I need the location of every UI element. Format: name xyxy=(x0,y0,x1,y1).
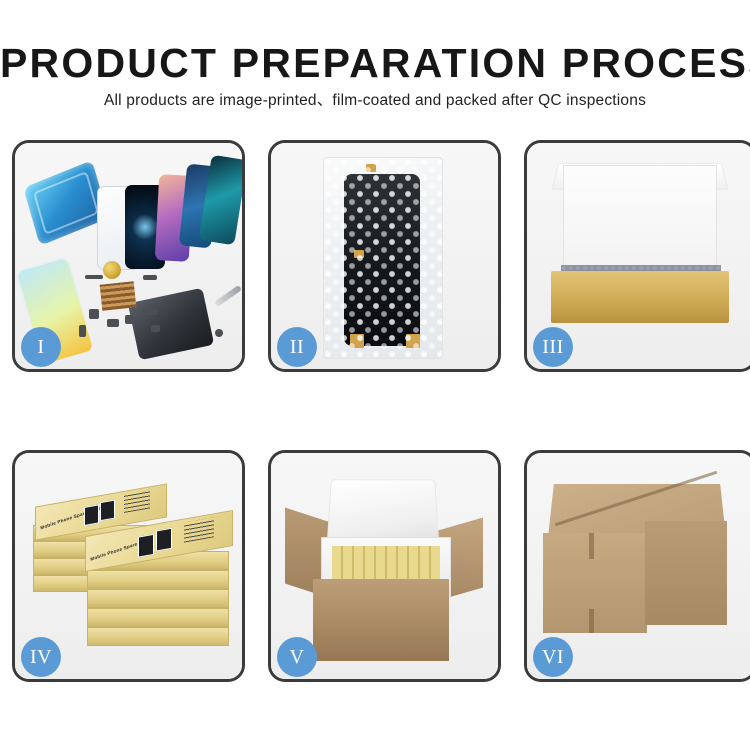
phone-back-housing xyxy=(128,288,214,361)
box-label-lines xyxy=(184,517,214,542)
small-part xyxy=(79,325,86,337)
kraft-box-tray xyxy=(551,271,729,323)
page-title: PRODUCT PREPARATION PROCESS xyxy=(0,40,750,87)
stacked-box xyxy=(87,608,229,627)
step-badge-2: II xyxy=(277,327,317,367)
box-label-image xyxy=(100,500,115,522)
process-step-panel-3[interactable]: III xyxy=(524,140,750,372)
chip-grid xyxy=(100,281,137,310)
blue-screen-protector xyxy=(23,160,108,246)
gold-component xyxy=(103,261,121,279)
small-part xyxy=(125,315,134,324)
process-step-panel-5[interactable]: V xyxy=(268,450,501,682)
process-step-grid: I II xyxy=(0,135,750,695)
step-badge-6: VI xyxy=(533,637,573,677)
process-step-panel-2[interactable]: II xyxy=(268,140,501,372)
carton-side-face xyxy=(645,521,727,625)
carton-seam xyxy=(589,533,594,559)
small-part xyxy=(143,275,157,280)
bubble-texture xyxy=(324,158,442,358)
box-label-lines xyxy=(124,490,150,513)
step-badge-3: III xyxy=(533,327,573,367)
small-part xyxy=(85,275,103,279)
box-label-image xyxy=(156,528,172,552)
process-step-panel-4[interactable]: Mobile Phone Spare Parts Mobile Phone Sp… xyxy=(12,450,245,682)
box-label-image xyxy=(138,534,154,558)
process-step-panel-1[interactable]: I xyxy=(12,140,245,372)
small-part xyxy=(107,319,119,327)
stacked-box xyxy=(87,627,229,646)
small-part xyxy=(141,309,157,315)
small-part xyxy=(151,325,160,332)
stacked-box xyxy=(87,589,229,608)
box-stack: Mobile Phone Spare Parts Mobile Phone Sp… xyxy=(33,479,231,659)
carton-body xyxy=(313,579,449,661)
carton-front-face xyxy=(543,533,647,633)
process-step-panel-6[interactable]: VI xyxy=(524,450,750,682)
page-header: PRODUCT PREPARATION PROCESS All products… xyxy=(0,0,750,125)
step-badge-1: I xyxy=(21,327,61,367)
page-subtitle: All products are image-printed、film-coat… xyxy=(0,88,750,110)
small-part xyxy=(89,309,99,319)
box-white-lid xyxy=(563,165,717,279)
carton-seam xyxy=(589,609,594,633)
small-part xyxy=(215,329,223,337)
repair-tool xyxy=(214,285,242,307)
step-badge-4: IV xyxy=(21,637,61,677)
bubble-wrap-bag xyxy=(323,157,443,359)
box-label-image xyxy=(84,504,99,526)
stacked-box xyxy=(87,570,229,589)
step-badge-5: V xyxy=(277,637,317,677)
styrofoam-lid xyxy=(327,479,439,541)
